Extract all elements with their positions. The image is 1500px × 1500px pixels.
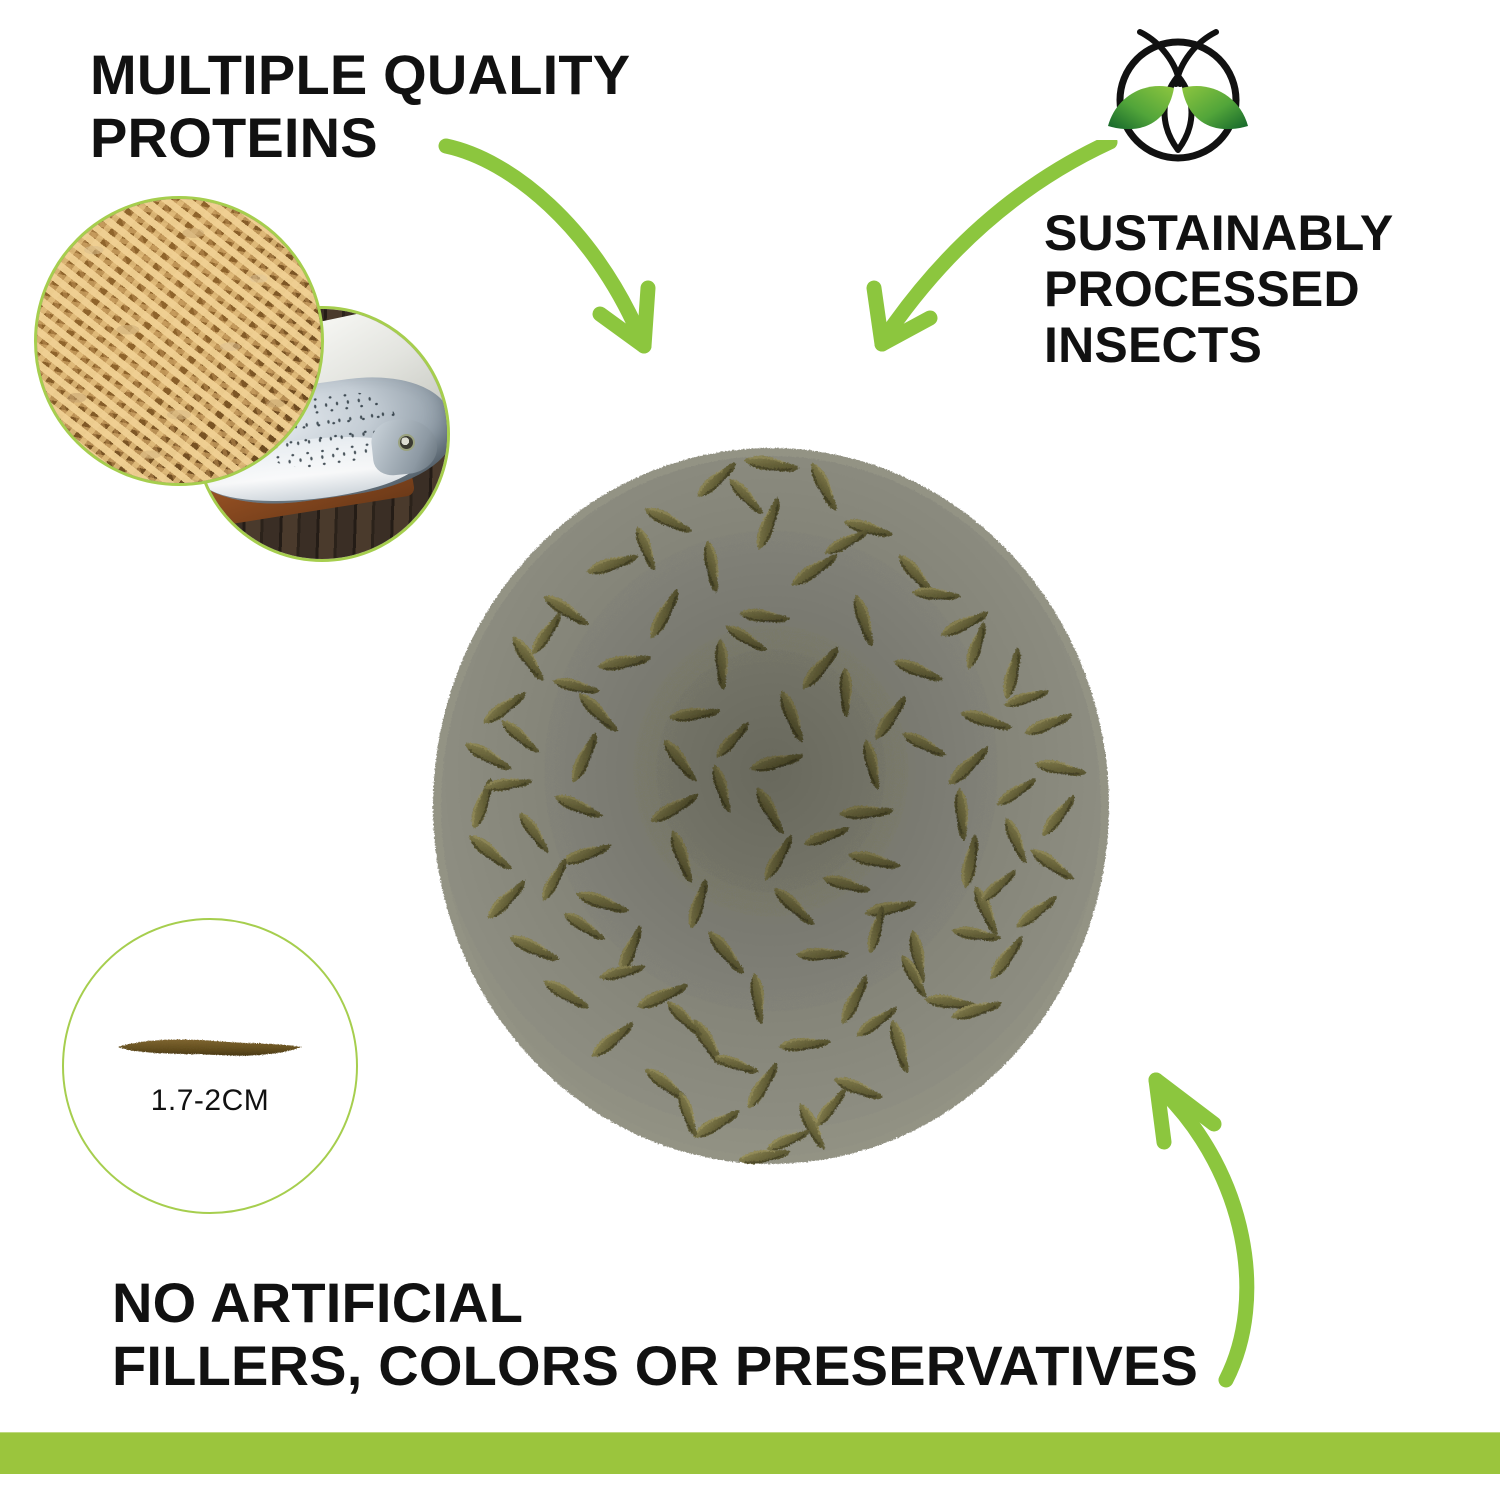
arrow-proteins-to-product-icon: [432, 118, 722, 388]
black-soldier-fly-larvae-photo: [34, 196, 324, 486]
heading-no-artificial-fillers: NO ARTIFICIAL FILLERS, COLORS OR PRESERV…: [112, 1272, 1312, 1397]
single-pellet-icon: [112, 1033, 308, 1063]
protein-source-photos: [34, 196, 454, 596]
arrow-sustainable-to-product-icon: [838, 140, 1138, 360]
infographic-page: MULTIPLE QUALITY PROTEINS: [0, 0, 1500, 1500]
insect-protein-pellets: [416, 424, 1126, 1188]
pellet-size-indicator: 1.7-2CM: [62, 918, 358, 1214]
bottom-accent-bar: [0, 1432, 1500, 1474]
pellet-size-label: 1.7-2CM: [64, 1084, 356, 1118]
